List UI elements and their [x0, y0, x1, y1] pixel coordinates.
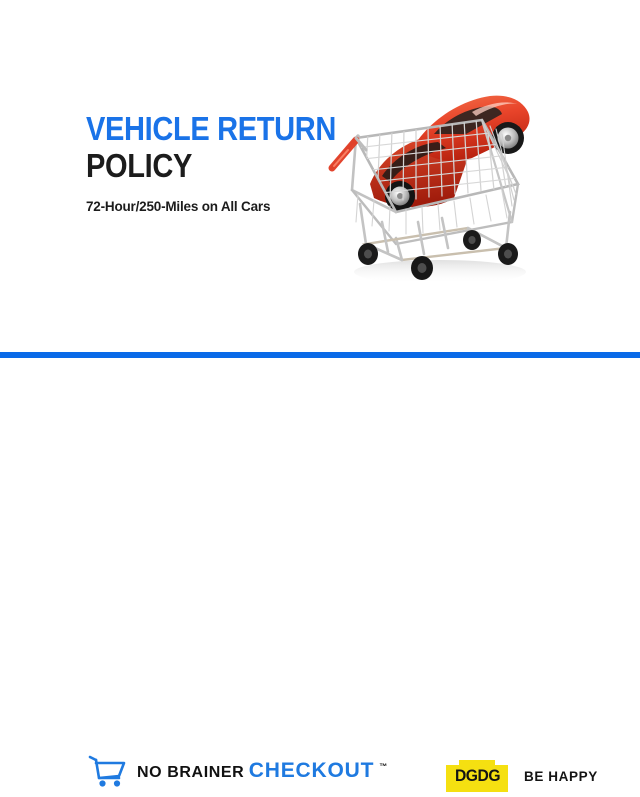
cart-car-graphic — [322, 72, 542, 287]
slide-canvas: VEHICLE RETURN POLICY 72-Hour/250-Miles … — [0, 0, 640, 480]
headline-block: VEHICLE RETURN POLICY 72-Hour/250-Miles … — [86, 112, 336, 214]
hero-section: VEHICLE RETURN POLICY 72-Hour/250-Miles … — [0, 0, 640, 352]
nbc-line-two: CHECKOUT — [249, 759, 374, 782]
no-brainer-checkout-logo: NO BRAINER CHECKOUT ™ — [86, 750, 374, 792]
car-in-shopping-cart-image — [322, 72, 542, 287]
headline-secondary: POLICY — [86, 148, 306, 184]
dgdg-logo: DGDG BE HAPPY — [446, 760, 598, 792]
headline-primary: VEHICLE RETURN — [86, 112, 306, 146]
dgdg-wordmark: DGDG — [454, 766, 499, 786]
no-brainer-checkout-wordmark: NO BRAINER CHECKOUT ™ — [137, 760, 374, 782]
shopping-cart-icon — [86, 750, 128, 792]
dgdg-badge: DGDG — [446, 760, 508, 792]
dgdg-tagline: BE HAPPY — [524, 769, 598, 784]
footer-section: NO BRAINER CHECKOUT ™ DGDG BE HAPPY — [0, 358, 640, 480]
subheadline: 72-Hour/250-Miles on All Cars — [86, 199, 336, 214]
nbc-line-one: NO BRAINER — [137, 764, 244, 781]
trademark-symbol: ™ — [379, 762, 387, 771]
